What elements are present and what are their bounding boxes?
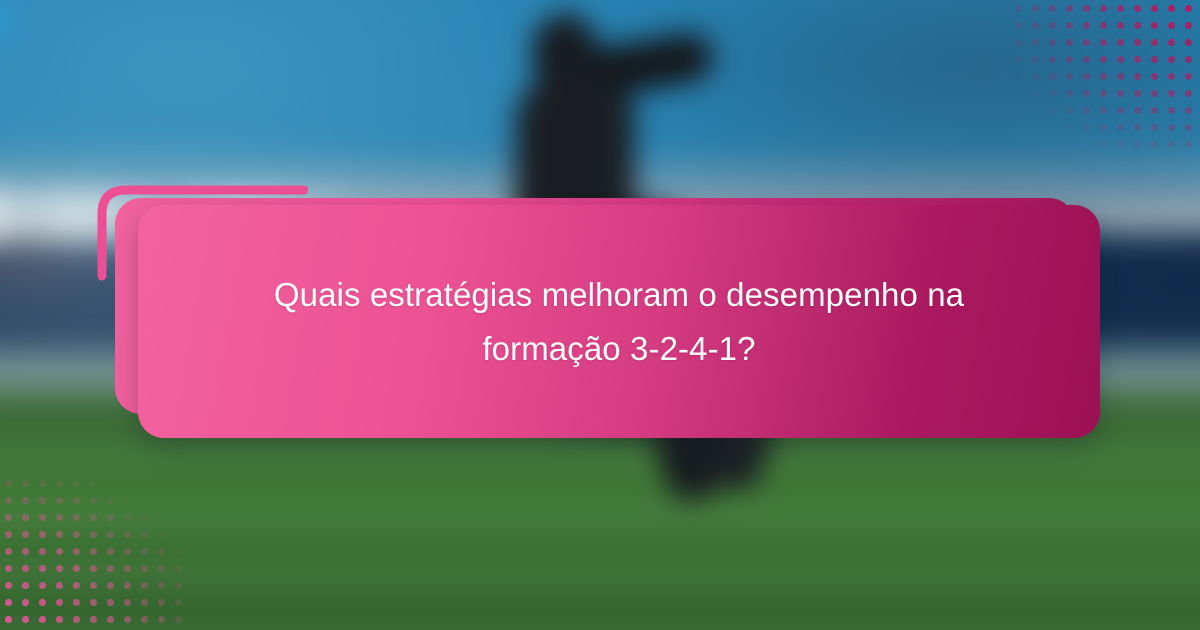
page-title: Quais estratégias melhoram o desempenho … (138, 268, 1100, 375)
social-card-canvas: Quais estratégias melhoram o desempenho … (0, 0, 1200, 630)
headline-card: Quais estratégias melhoram o desempenho … (138, 205, 1100, 438)
